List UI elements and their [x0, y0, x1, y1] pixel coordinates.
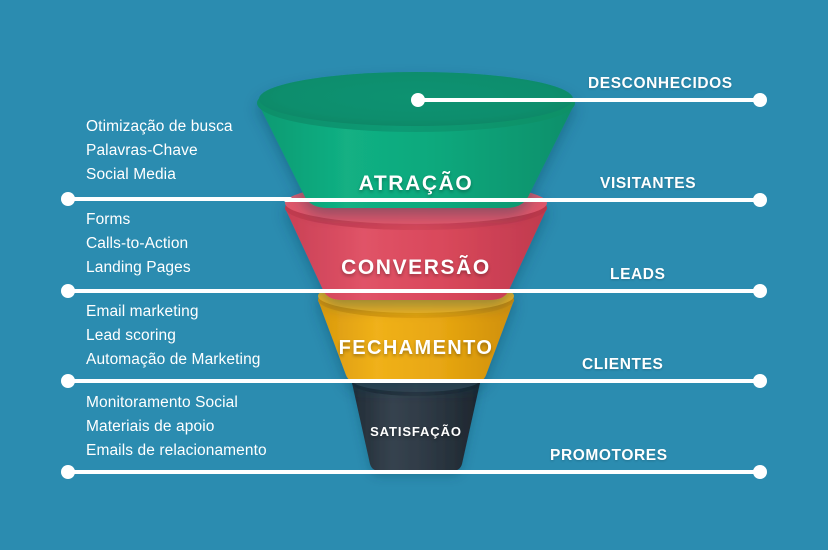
audience-label-leads: LEADS: [610, 266, 666, 284]
tactic-item: Otimização de busca: [86, 115, 233, 139]
tactic-item: Emails de relacionamento: [86, 439, 267, 463]
tactic-item: Calls-to-Action: [86, 232, 191, 256]
stage-label-fechamento: FECHAMENTO: [316, 337, 516, 360]
tactic-item: Monitoramento Social: [86, 391, 267, 415]
audience-label-visitantes: VISITANTES: [600, 175, 696, 193]
tactic-item: Materiais de apoio: [86, 415, 267, 439]
tactic-item: Forms: [86, 208, 191, 232]
tactic-item: Landing Pages: [86, 256, 191, 280]
tactics-group-satisfacao: Monitoramento Social Materiais de apoio …: [86, 391, 267, 463]
funnel-stage-satisfacao: [352, 368, 480, 471]
funnel-infographic: ATRAÇÃO CONVERSÃO FECHAMENTO SATISFAÇÃO …: [0, 0, 828, 550]
tactics-group-conversao: Forms Calls-to-Action Landing Pages: [86, 208, 191, 280]
audience-label-clientes: CLIENTES: [582, 356, 663, 374]
audience-label-desconhecidos: DESCONHECIDOS: [588, 75, 733, 93]
tactics-group-atracao: Otimização de busca Palavras-Chave Socia…: [86, 115, 233, 187]
tactic-item: Lead scoring: [86, 324, 261, 348]
tactics-group-fechamento: Email marketing Lead scoring Automação d…: [86, 300, 261, 372]
tactic-item: Social Media: [86, 163, 233, 187]
tactic-item: Palavras-Chave: [86, 139, 233, 163]
tactic-item: Automação de Marketing: [86, 348, 261, 372]
stage-label-conversao: CONVERSÃO: [316, 256, 516, 280]
stage-label-satisfacao: SATISFAÇÃO: [341, 424, 491, 439]
audience-label-promotores: PROMOTORES: [550, 447, 668, 465]
tactic-item: Email marketing: [86, 300, 261, 324]
stage-label-atracao: ATRAÇÃO: [316, 172, 516, 196]
